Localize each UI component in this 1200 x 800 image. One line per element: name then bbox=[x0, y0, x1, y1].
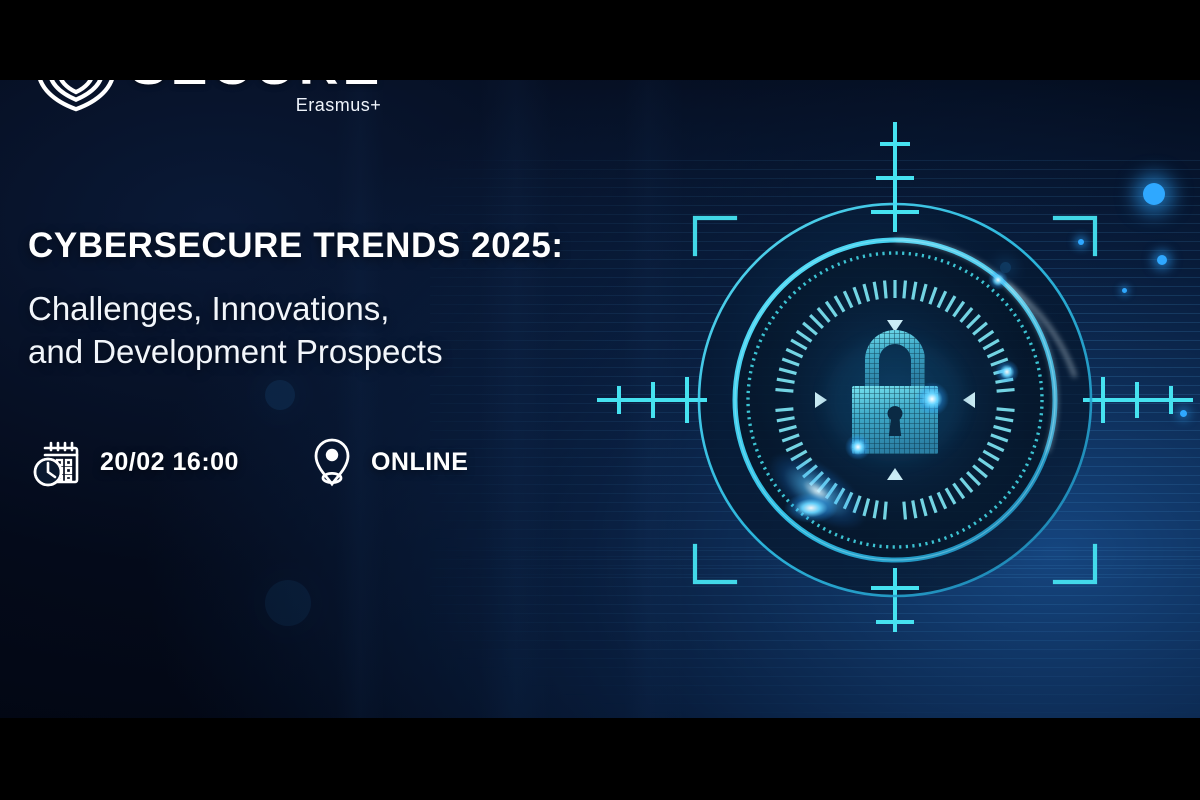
letterbox-bar-top bbox=[0, 0, 1200, 80]
event-datetime-label: 20/02 16:00 bbox=[100, 448, 239, 477]
page-subtitle: Challenges, Innovations, and Development… bbox=[28, 288, 564, 374]
event-details: 20/02 16:00 ONLINE bbox=[32, 436, 468, 488]
subtitle-line-1: Challenges, Innovations, bbox=[28, 288, 564, 331]
calendar-clock-icon bbox=[32, 436, 84, 488]
glow-dot bbox=[265, 380, 295, 410]
map-pin-icon bbox=[309, 436, 355, 488]
glow-dot bbox=[265, 580, 311, 626]
headline-block: CYBERSECURE TRENDS 2025: Challenges, Inn… bbox=[28, 226, 564, 374]
event-datetime: 20/02 16:00 bbox=[32, 436, 239, 488]
event-location: ONLINE bbox=[309, 436, 468, 488]
event-location-label: ONLINE bbox=[371, 448, 468, 477]
letterbox-bar-bottom bbox=[0, 718, 1200, 800]
cyber-target-padlock-graphic bbox=[595, 32, 1195, 632]
page-title: CYBERSECURE TRENDS 2025: bbox=[28, 226, 564, 266]
event-poster: SECURE Erasmus+ CYBERSECURE TRENDS 2025:… bbox=[0, 0, 1200, 800]
subtitle-line-2: and Development Prospects bbox=[28, 331, 564, 374]
programme-name: Erasmus+ bbox=[296, 95, 382, 116]
